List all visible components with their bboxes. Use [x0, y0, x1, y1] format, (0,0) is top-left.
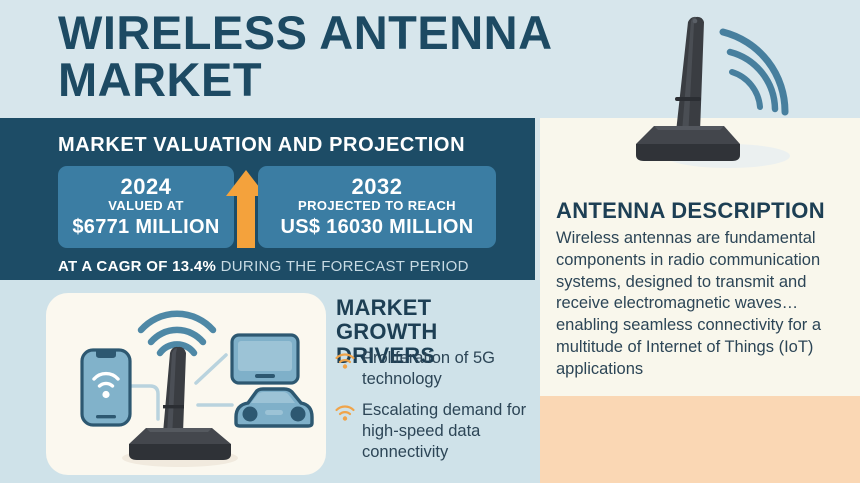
- monitor-stand: [255, 374, 275, 378]
- antenna-network-svg: [46, 293, 326, 475]
- car-icon: [236, 389, 312, 426]
- value-box-2032: 2032 PROJECTED TO REACH US$ 16030 MILLIO…: [258, 166, 496, 248]
- page-title-line1: WIRELESS ANTENNA: [58, 10, 658, 57]
- signal-waves-icon: [723, 32, 785, 112]
- antenna-base-highlight: [146, 428, 212, 432]
- description-body: Wireless antennas are fundamental compon…: [556, 228, 856, 380]
- car-grille: [265, 410, 283, 415]
- infographic-canvas: WIRELESS ANTENNA MARKET MARKET VALUATION…: [0, 0, 860, 483]
- smartphone-notch: [96, 351, 116, 358]
- smartphone-wifi-dot: [102, 391, 109, 398]
- description-title: ANTENNA DESCRIPTION: [556, 198, 825, 224]
- car-wheel-right: [291, 407, 306, 422]
- valuation-panel: MARKET VALUATION AND PROJECTION 2024 VAL…: [0, 118, 535, 280]
- list-item: Proliferation of 5G technology: [334, 348, 540, 390]
- growth-drivers-title-line1: MARKET: [336, 296, 536, 320]
- antenna-base-body: [129, 444, 231, 460]
- valuation-heading: MARKET VALUATION AND PROJECTION: [58, 134, 465, 157]
- smartphone-home-bar: [96, 415, 116, 418]
- cagr-value: AT A CAGR OF 13.4%: [58, 258, 216, 275]
- wifi-icon-dot: [343, 364, 347, 368]
- page-title: WIRELESS ANTENNA MARKET: [58, 10, 658, 103]
- smartphone-icon: [82, 350, 130, 425]
- wifi-icon-svg: [334, 351, 356, 371]
- value-box-2032-caption: PROJECTED TO REACH: [298, 198, 456, 214]
- antenna-base-highlight: [654, 126, 724, 130]
- value-box-2024-year: 2024: [121, 175, 172, 198]
- antenna-joint: [675, 97, 701, 101]
- antenna-base-body: [636, 144, 740, 161]
- value-box-2024-amount: $6771 MILLION: [72, 215, 219, 239]
- page-title-line2: MARKET: [58, 57, 658, 104]
- cagr-suffix: DURING THE FORECAST PERIOD: [221, 258, 469, 275]
- antenna-joint: [163, 405, 184, 408]
- peach-block: [540, 396, 860, 483]
- car-wheel-left: [243, 407, 258, 422]
- list-item-label: Proliferation of 5G technology: [356, 348, 540, 390]
- wifi-icon: [334, 351, 356, 371]
- antenna-network-illustration: [46, 293, 326, 475]
- growth-drivers-list: Proliferation of 5G technology Escalatin…: [334, 348, 540, 474]
- value-box-2032-year: 2032: [352, 175, 403, 198]
- wifi-icon: [334, 403, 356, 423]
- monitor-display: [238, 341, 292, 371]
- cagr-line: AT A CAGR OF 13.4% DURING THE FORECAST P…: [58, 258, 469, 275]
- value-box-2024-caption: VALUED AT: [108, 198, 184, 214]
- list-item-label: Escalating demand for high-speed data co…: [356, 400, 540, 463]
- smartphone-body: [82, 350, 130, 425]
- antenna-tip: [693, 19, 698, 24]
- wifi-icon-svg: [334, 403, 356, 423]
- monitor-icon: [232, 335, 298, 383]
- value-box-2024: 2024 VALUED AT $6771 MILLION: [58, 166, 234, 248]
- value-box-2032-amount: US$ 16030 MILLION: [281, 215, 474, 239]
- antenna-icon: [122, 347, 238, 467]
- list-item: Escalating demand for high-speed data co…: [334, 400, 540, 463]
- wifi-icon-dot: [343, 417, 347, 421]
